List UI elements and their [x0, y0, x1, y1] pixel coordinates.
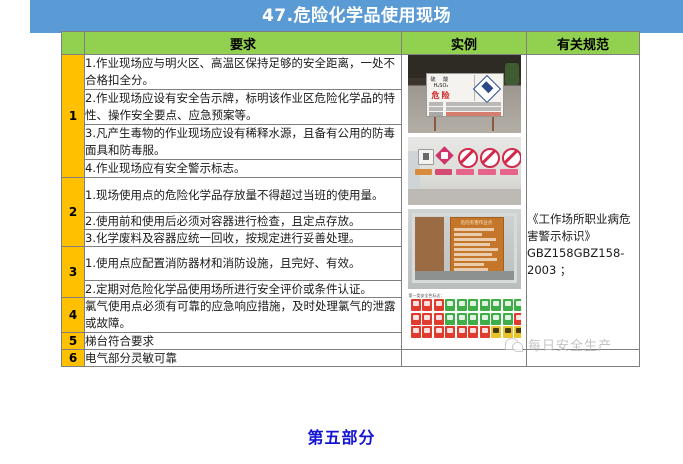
- column-header-example: 实例: [402, 32, 527, 55]
- standard-reference-cell: 《工作场所职业病危害警示标识》GBZ158GBZ158-2003 ；: [527, 55, 640, 350]
- requirement-text-1-3: 3.凡产生毒物的作业现场应设有稀释水源，且备有公用的防毒面具和防毒服。: [85, 125, 402, 160]
- row-number-4: 4: [62, 298, 85, 333]
- prohibition-sign-icon: [457, 326, 467, 338]
- row-number-1: 1: [62, 55, 85, 178]
- requirement-text-3-1: 1.使用点应配置消防器材和消防设施，且完好、有效。: [85, 246, 402, 281]
- chemical-name-label: 硫 酸: [431, 76, 452, 83]
- requirement-text-2-3: 3.化学废料及容器应统一回收，按规定进行妥善处理。: [85, 229, 402, 246]
- corrosive-diamond-icon: [472, 75, 500, 103]
- sign-post-left: [434, 115, 436, 131]
- sulfuric-acid-danger-board-photo: 硫 酸 H₂SO₄ 危险: [408, 55, 521, 133]
- no-entry-icon: [480, 148, 500, 168]
- column-header-number: [62, 32, 85, 55]
- requirement-text-1-2: 2.作业现场应设有安全告示牌，标明该作业区危险化学品的特性、操作安全要点、应急预…: [85, 90, 402, 125]
- requirement-text-1-4: 4.作业现场应有安全警示标志。: [85, 160, 402, 178]
- watermark-text: 每日安全生产: [528, 335, 612, 354]
- safety-sign-icon: [480, 313, 490, 325]
- prohibition-sign-icon: [422, 313, 432, 325]
- safety-sign-icon: [445, 313, 455, 325]
- sign-label-3: [456, 169, 474, 175]
- sign-label-1: [415, 169, 432, 175]
- pictogram-grid: [411, 299, 521, 338]
- sign-wall: [414, 143, 515, 183]
- safety-sign-icon: [468, 299, 478, 311]
- safety-sign-icon: [480, 299, 490, 311]
- sign-post-right: [492, 115, 494, 131]
- info-sign-icon: [418, 149, 434, 165]
- safety-sign-icon: [457, 299, 467, 311]
- signboard-detail-rows: [429, 102, 501, 117]
- flammable-diamond-icon: [435, 146, 453, 164]
- warning-sign-icon: [491, 326, 501, 338]
- requirement-text-3-2: 2.定期对危险化学品使用场所进行安全评价或条件认证。: [85, 281, 402, 298]
- page-title: 47.危险化学品使用现场: [30, 4, 683, 28]
- prohibition-sign-icon: [514, 313, 521, 325]
- section-caption: 第五部分: [0, 424, 683, 448]
- prohibition-sign-icon: [434, 326, 444, 338]
- sign-label-4: [478, 169, 496, 175]
- prohibition-sign-icon: [422, 326, 432, 338]
- requirement-text-6-1: 电气部分灵敏可靠: [85, 350, 402, 367]
- danger-word-label: 危险: [432, 90, 452, 101]
- prohibition-sign-icon: [411, 313, 421, 325]
- requirement-text-2-2: 2.使用前和使用后必须对容器进行检查，且定点存放。: [85, 212, 402, 229]
- safety-sign-icon: [457, 313, 467, 325]
- glass-window-frame: [412, 213, 517, 283]
- requirements-table: 要求 实例 有关规范 1 1.作业现场应与明火区、高温区保持足够的安全距离，一处…: [61, 31, 640, 367]
- prohibition-sign-icon: [422, 299, 432, 311]
- prohibition-sign-icon: [445, 326, 455, 338]
- column-header-standard: 有关规范: [527, 32, 640, 55]
- row-number-6: 6: [62, 350, 85, 367]
- prohibition-sign-icon: [411, 326, 421, 338]
- wall-warning-signs-photo: [408, 137, 521, 205]
- requirement-text-4-1: 氯气使用点必须有可靠的应急响应措施，及时处理氯气的泄露或故障。: [85, 298, 402, 333]
- standard-reference-text: 《工作场所职业病危害警示标识》GBZ158GBZ158-2003 ；: [527, 125, 639, 279]
- prohibition-sign-icon: [468, 326, 478, 338]
- row-number-5: 5: [62, 333, 85, 350]
- safety-pictogram-chart-photo: 第一类安全色标志：: [408, 293, 521, 345]
- table-row: 1 1.作业现场应与明火区、高温区保持足够的安全距离，一处不合格扣全分。 硫 酸…: [62, 55, 640, 90]
- safety-sign-icon: [503, 313, 513, 325]
- no-open-flame-icon: [502, 148, 521, 168]
- foliage-shape: [505, 63, 519, 85]
- prohibition-sign-icon: [434, 299, 444, 311]
- example-photos-cell: 硫 酸 H₂SO₄ 危险: [402, 55, 527, 350]
- sign-label-5: [500, 169, 518, 175]
- column-header-requirement: 要求: [85, 32, 402, 55]
- wechat-watermark: 每日安全生产: [505, 335, 612, 354]
- prohibition-sign-icon: [434, 313, 444, 325]
- requirement-text-1-1: 1.作业现场应与明火区、高温区保持足够的安全距离，一处不合格扣全分。: [85, 55, 402, 90]
- safety-sign-icon: [503, 299, 513, 311]
- prohibition-sign-icon: [480, 326, 490, 338]
- no-smoking-icon: [458, 148, 478, 168]
- hazard-work-point-board-photo: 危险有害作业点: [408, 209, 521, 289]
- floor-shape: [408, 189, 521, 205]
- danger-signboard: 硫 酸 H₂SO₄ 危险: [426, 73, 504, 117]
- row-number-2: 2: [62, 178, 85, 247]
- safety-sign-icon: [514, 299, 521, 311]
- safety-sign-icon: [468, 313, 478, 325]
- chemical-formula-label: H₂SO₄: [434, 83, 449, 89]
- safety-sign-icon: [491, 299, 501, 311]
- row-number-3: 3: [62, 246, 85, 298]
- requirements-table-wrapper: 要求 实例 有关规范 1 1.作业现场应与明火区、高温区保持足够的安全距离，一处…: [61, 31, 639, 381]
- safety-sign-icon: [491, 313, 501, 325]
- wechat-icon: [505, 338, 523, 352]
- requirement-text-5-1: 梯台符合要求: [85, 333, 402, 350]
- prohibition-sign-icon: [411, 299, 421, 311]
- requirement-text-2-1: 1.现场使用点的危险化学品存放量不得超过当班的使用量。: [85, 178, 402, 213]
- table-header-row: 要求 实例 有关规范: [62, 32, 640, 55]
- safety-sign-icon: [445, 299, 455, 311]
- sign-label-2: [435, 169, 452, 175]
- page-title-bar: 47.危险化学品使用现场: [30, 0, 683, 33]
